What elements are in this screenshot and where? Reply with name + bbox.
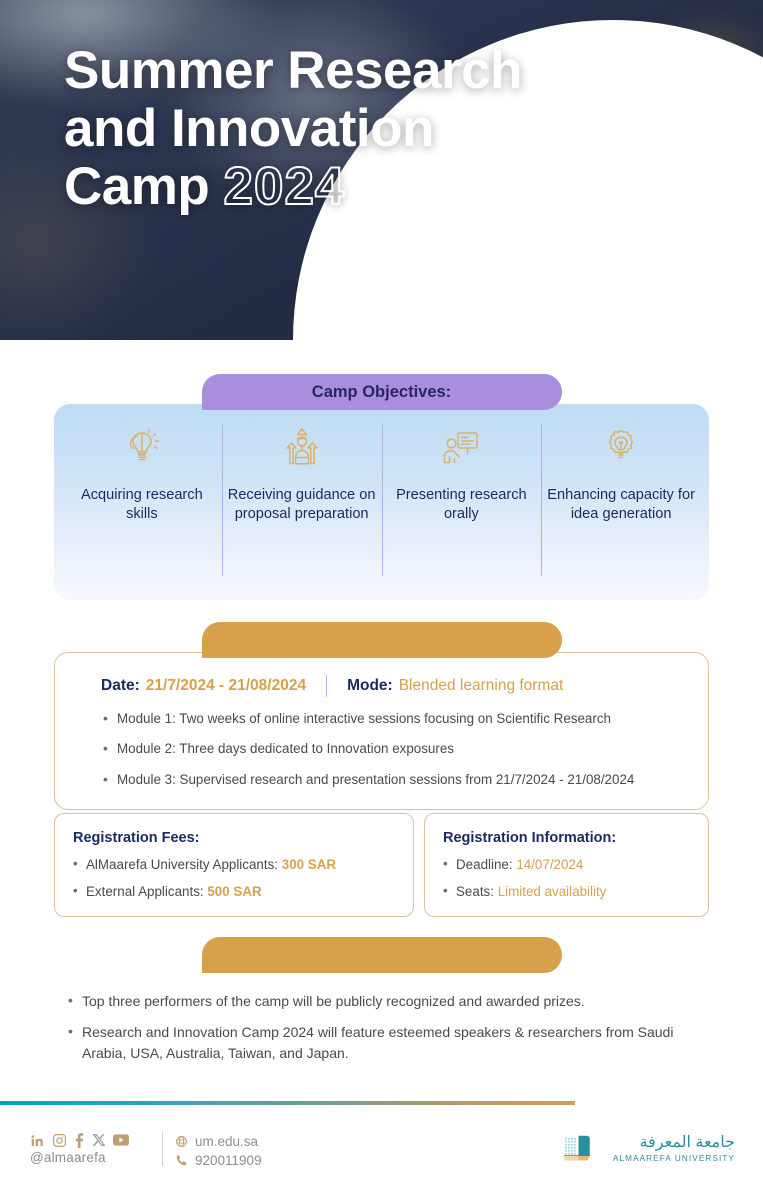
fee-value-2: 500 SAR — [207, 884, 261, 899]
registration-fees-box: Registration Fees: AlMaarefa University … — [54, 813, 414, 917]
registration-information-title: Registration Information: — [443, 830, 690, 846]
title-word-camp: Camp — [64, 157, 209, 216]
objective-label-2: Receiving guidance on proposal preparati… — [228, 486, 376, 525]
list-item: Deadline: 14/07/2024 — [443, 856, 690, 875]
list-item: Research and Innovation Camp 2024 will f… — [68, 1022, 709, 1064]
camp-objectives-section: Camp Objectives: Acqui — [0, 374, 763, 600]
module-list: Module 1: Two weeks of online interactiv… — [81, 709, 682, 789]
instagram-icon[interactable] — [52, 1133, 67, 1148]
registration-information-box: Registration Information: Deadline: 14/0… — [424, 813, 709, 917]
brain-lightbulb-icon — [118, 424, 166, 472]
footer-contact-block: @almaarefa um.edu.sa — [30, 1132, 262, 1169]
date-value: 21/7/2024 - 21/08/2024 — [146, 677, 306, 695]
phone-text: 920011909 — [195, 1153, 262, 1168]
objective-item-1: Acquiring research skills — [62, 420, 222, 586]
camp-objectives-box: Acquiring research skills Receivi — [54, 404, 709, 600]
contact-divider — [162, 1132, 163, 1166]
social-handle: @almaarefa — [30, 1150, 150, 1165]
camp-details-box: Date: 21/7/2024 - 21/08/2024 Mode: Blend… — [54, 652, 709, 810]
presenter-board-icon — [437, 424, 485, 472]
objective-item-4: Enhancing capacity for idea generation — [541, 420, 701, 586]
list-item: External Applicants: 500 SAR — [73, 883, 395, 902]
info-value-2: Limited availability — [498, 884, 607, 899]
fee-label-2: External Applicants: — [86, 884, 204, 899]
registration-information-list: Deadline: 14/07/2024 Seats: Limited avai… — [443, 856, 690, 902]
date-label: Date: — [101, 677, 140, 695]
university-logo: جامعة المعرفة ALMAAREFA UNIVERSITY — [562, 1132, 735, 1166]
info-value-1: 14/07/2024 — [516, 857, 583, 872]
list-item: Module 1: Two weeks of online interactiv… — [103, 709, 682, 728]
open-book-logo-icon — [562, 1132, 604, 1166]
camp-details-section: Camp Details: Date: 21/7/2024 - 21/08/20… — [0, 622, 763, 810]
date-mode-row: Date: 21/7/2024 - 21/08/2024 Mode: Blend… — [81, 675, 682, 709]
website-text: um.edu.sa — [195, 1134, 258, 1149]
mentor-arrows-icon — [278, 424, 326, 472]
objective-label-1: Acquiring research skills — [68, 486, 216, 525]
title-line-1: Summer Research — [64, 44, 724, 98]
logo-arabic-name: جامعة المعرفة — [613, 1135, 735, 1152]
website-row[interactable]: um.edu.sa — [175, 1132, 262, 1150]
registration-fees-list: AlMaarefa University Applicants: 300 SAR… — [73, 856, 395, 902]
gear-lightbulb-icon — [597, 424, 645, 472]
header-banner: Summer Research and Innovation Camp 2024 — [0, 0, 763, 340]
globe-icon — [175, 1135, 188, 1148]
list-item: Module 2: Three days dedicated to Innova… — [103, 739, 682, 758]
objective-item-3: Presenting research orally — [382, 420, 542, 586]
poster: Summer Research and Innovation Camp 2024… — [0, 0, 763, 1200]
major-camp-features-tab: Major Camp Features: — [202, 937, 562, 973]
camp-details-tab: Camp Details: — [202, 622, 562, 658]
fee-value-1: 300 SAR — [282, 857, 336, 872]
features-list: Top three performers of the camp will be… — [54, 991, 709, 1064]
mode-label: Mode: — [347, 677, 393, 695]
registration-fees-title: Registration Fees: — [73, 830, 395, 846]
title-line-3: Camp 2024 — [64, 160, 724, 214]
footer-gradient-divider — [0, 1101, 575, 1105]
objective-label-3: Presenting research orally — [388, 486, 536, 525]
mode-value: Blended learning format — [399, 677, 564, 695]
youtube-icon[interactable] — [113, 1134, 129, 1146]
university-logo-text: جامعة المعرفة ALMAAREFA UNIVERSITY — [613, 1135, 735, 1163]
logo-english-name: ALMAAREFA UNIVERSITY — [613, 1154, 735, 1163]
list-item: Top three performers of the camp will be… — [68, 991, 709, 1012]
major-camp-features-section: Major Camp Features: Top three performer… — [0, 937, 763, 1074]
facebook-icon[interactable] — [74, 1133, 85, 1148]
list-item: Module 3: Supervised research and presen… — [103, 770, 682, 789]
date-mode-divider — [326, 675, 327, 697]
linkedin-icon[interactable] — [30, 1133, 45, 1148]
page-title: Summer Research and Innovation Camp 2024 — [64, 44, 724, 218]
registration-row: Registration Fees: AlMaarefa University … — [54, 813, 709, 917]
objective-item-2: Receiving guidance on proposal preparati… — [222, 420, 382, 586]
objective-label-4: Enhancing capacity for idea generation — [547, 486, 695, 525]
footer: @almaarefa um.edu.sa — [0, 1118, 763, 1198]
list-item: Seats: Limited availability — [443, 883, 690, 902]
title-year: 2024 — [224, 157, 346, 216]
title-line-2: and Innovation — [64, 102, 724, 156]
social-icons-row — [30, 1132, 150, 1148]
phone-icon — [175, 1154, 188, 1167]
camp-objectives-tab: Camp Objectives: — [202, 374, 562, 410]
info-label-2: Seats: — [456, 884, 494, 899]
list-item: AlMaarefa University Applicants: 300 SAR — [73, 856, 395, 875]
fee-label-1: AlMaarefa University Applicants: — [86, 857, 278, 872]
x-icon[interactable] — [92, 1133, 106, 1147]
phone-row[interactable]: 920011909 — [175, 1151, 262, 1169]
info-label-1: Deadline: — [456, 857, 513, 872]
